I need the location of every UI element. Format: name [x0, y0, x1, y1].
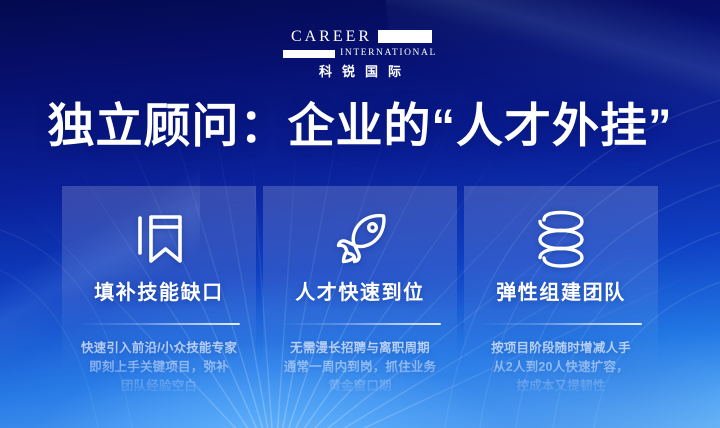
feature-card-list: 填补技能缺口 快速引入前沿/小众技能专家 即刻上手关键项目，弥补 团队经验空白: [62, 186, 658, 416]
feature-card-fast-talent: 人才快速到位 无需漫长招聘与离职周期 通常一周内到岗，抓住业务 黄金窗口期: [263, 186, 457, 416]
card-title: 弹性组建团队: [496, 280, 626, 306]
logo-chinese-text: 科锐国际: [309, 64, 411, 80]
feature-card-flexible-team: 弹性组建团队 按项目阶段随时增减人手 从2人到20人快速扩容， 控成本又提韧性: [464, 186, 658, 416]
logo-career-text: CAREER: [288, 28, 372, 45]
card-description-line: 按项目阶段随时增减人手: [491, 339, 631, 358]
card-description-line: 无需漫长招聘与离职周期: [284, 339, 436, 358]
card-description-line: 团队经验空白: [81, 377, 237, 396]
card-description: 快速引入前沿/小众技能专家 即刻上手关键项目，弥补 团队经验空白: [81, 339, 237, 396]
feature-card-skill-gap: 填补技能缺口 快速引入前沿/小众技能专家 即刻上手关键项目，弥补 团队经验空白: [62, 186, 256, 416]
card-description: 无需漫长招聘与离职周期 通常一周内到岗，抓住业务 黄金窗口期: [284, 339, 436, 396]
bookmark-icon: [62, 208, 256, 270]
card-title: 填补技能缺口: [94, 280, 224, 306]
logo-block-icon: [378, 30, 432, 43]
page-title: 独立顾问：企业的“人才外挂”: [0, 97, 720, 155]
card-divider: [78, 323, 240, 325]
logo-primary-row: CAREER: [288, 28, 432, 45]
card-description-line: 快速引入前沿/小众技能专家: [81, 339, 237, 358]
card-divider: [480, 323, 642, 325]
card-divider: [279, 323, 441, 325]
logo-international-text: INTERNATIONAL: [340, 48, 437, 59]
card-description: 按项目阶段随时增减人手 从2人到20人快速扩容， 控成本又提韧性: [491, 339, 631, 396]
poster-root: CAREER INTERNATIONAL 科锐国际 独立顾问：企业的“人才外挂”: [0, 0, 720, 428]
card-title: 人才快速到位: [295, 280, 425, 306]
rocket-icon: [263, 208, 457, 270]
logo-secondary-row: INTERNATIONAL: [283, 48, 437, 59]
card-description-line: 控成本又提韧性: [491, 377, 631, 396]
card-description-line: 从2人到20人快速扩容，: [491, 358, 631, 377]
logo-bar-icon: [283, 50, 335, 58]
card-description-line: 通常一周内到岗，抓住业务: [284, 358, 436, 377]
card-description-line: 即刻上手关键项目，弥补: [81, 358, 237, 377]
brand-logo: CAREER INTERNATIONAL 科锐国际: [0, 28, 720, 80]
spring-coil-icon: [464, 208, 658, 270]
card-description-line: 黄金窗口期: [284, 377, 436, 396]
